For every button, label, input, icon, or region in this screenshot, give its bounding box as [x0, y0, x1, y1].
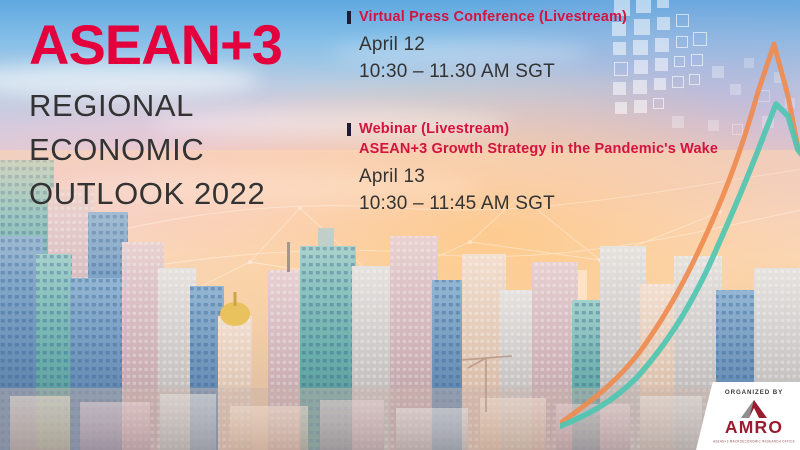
organized-by-label: ORGANIZED BY: [708, 389, 800, 396]
title-block: ASEAN+3 REGIONAL ECONOMIC OUTLOOK 2022: [29, 17, 339, 216]
event-virtual-press-conference: Virtual Press Conference (Livestream) Ap…: [347, 7, 737, 86]
page-title: ASEAN+3: [29, 17, 339, 73]
subtitle-line-1: REGIONAL: [29, 84, 339, 128]
event-date: April 13: [359, 163, 737, 191]
bullet-marker-icon: [347, 123, 351, 136]
organizer-panel: ORGANIZED BY AMRO ASEAN+3 MACROECONOMIC …: [696, 382, 800, 450]
events-list: Virtual Press Conference (Livestream) Ap…: [347, 7, 737, 218]
bullet-marker-icon: [347, 11, 351, 24]
event-time: 10:30 – 11.30 AM SGT: [359, 58, 737, 86]
amro-chevron-icon: [737, 400, 771, 418]
event-heading: Webinar (Livestream): [359, 119, 737, 140]
event-topic: ASEAN+3 Growth Strategy in the Pandemic'…: [359, 139, 737, 160]
event-webinar: Webinar (Livestream) ASEAN+3 Growth Stra…: [347, 119, 737, 218]
amro-wordmark: AMRO: [708, 419, 800, 437]
amro-tagline: ASEAN+3 MACROECONOMIC RESEARCH OFFICE: [708, 439, 800, 444]
event-heading: Virtual Press Conference (Livestream): [359, 7, 737, 28]
subtitle-line-3: OUTLOOK 2022: [29, 172, 339, 216]
event-date: April 12: [359, 31, 737, 59]
event-banner: ASEAN+3 REGIONAL ECONOMIC OUTLOOK 2022 V…: [0, 0, 800, 450]
event-time: 10:30 – 11:45 AM SGT: [359, 190, 737, 218]
subtitle-line-2: ECONOMIC: [29, 128, 339, 172]
